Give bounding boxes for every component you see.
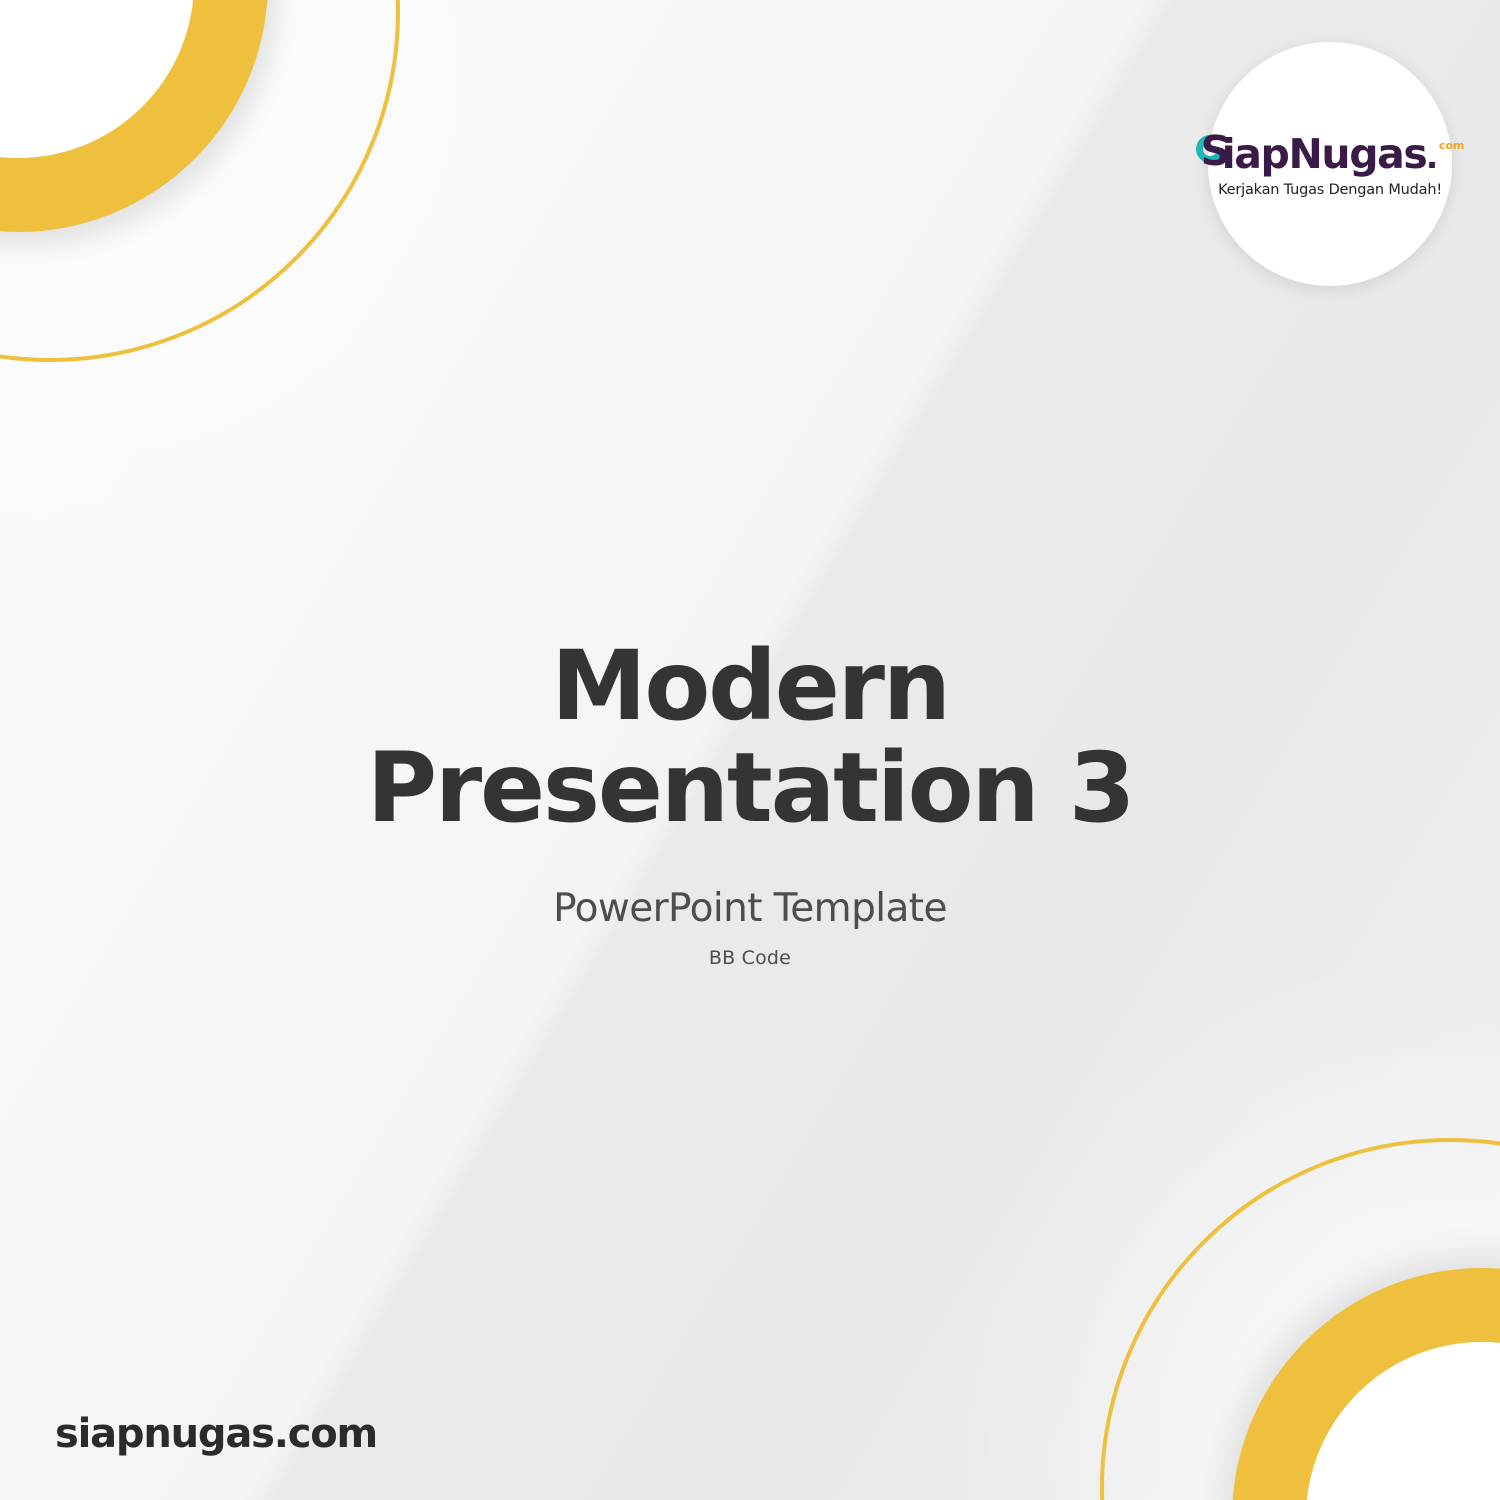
brand-s-glyph: S: [1196, 131, 1226, 175]
brand-dot: .: [1426, 134, 1437, 175]
top-left-glow: [0, 0, 660, 660]
slide-content: Modern Presentation 3 PowerPoint Templat…: [0, 636, 1500, 969]
slide-caption: BB Code: [120, 947, 1380, 969]
brand-name-text: iapNugas: [1222, 134, 1427, 175]
slide-title-line-2: Presentation 3: [120, 738, 1380, 840]
slide-subtitle: PowerPoint Template: [120, 886, 1380, 931]
brand-tagline: Kerjakan Tugas Dengan Mudah!: [1218, 182, 1442, 198]
brand-logo-badge[interactable]: S iapNugas . com Kerjakan Tugas Dengan M…: [1208, 42, 1452, 286]
brand-s-letter: S: [1201, 131, 1230, 172]
brand-tld: com: [1439, 140, 1465, 151]
slide-title: Modern Presentation 3: [120, 636, 1380, 840]
presentation-slide: S iapNugas . com Kerjakan Tugas Dengan M…: [0, 0, 1500, 1500]
slide-title-line-1: Modern: [120, 636, 1380, 738]
footer-website-url[interactable]: siapnugas.com: [55, 1411, 377, 1457]
brand-wordmark: S iapNugas . com: [1196, 131, 1465, 175]
